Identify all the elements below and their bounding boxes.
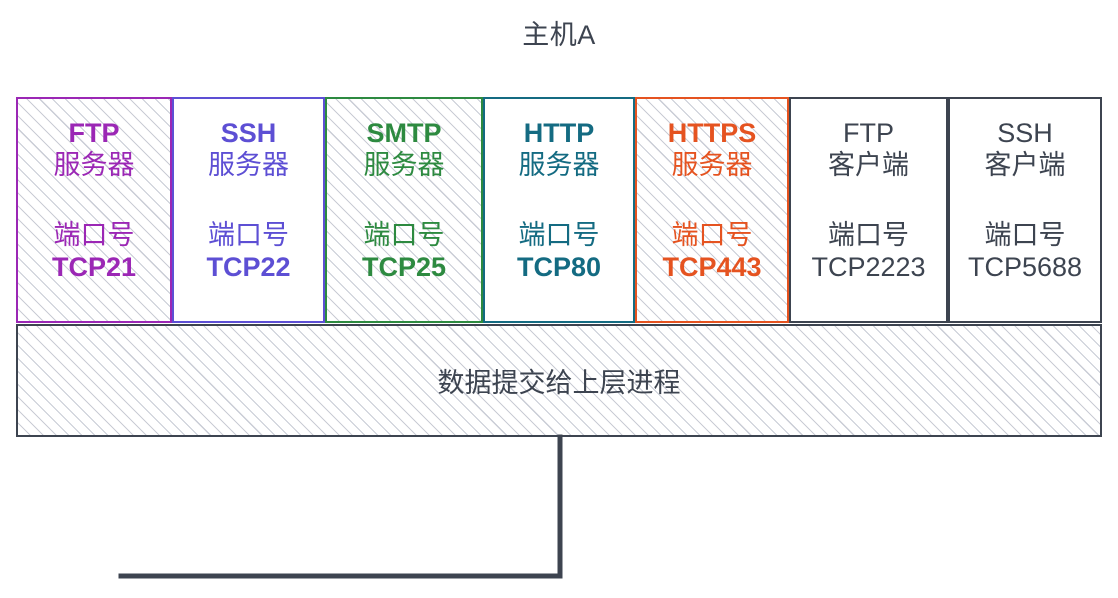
- service-name: HTTPS: [668, 119, 757, 148]
- port-value: TCP443: [662, 253, 761, 283]
- port-value: TCP80: [517, 253, 601, 283]
- page-title: 主机A: [0, 22, 1118, 49]
- service-box-ssh-server: SSH服务器端口号TCP22: [172, 97, 325, 323]
- port-label: 端口号: [985, 220, 1066, 250]
- port-value: TCP21: [52, 253, 136, 283]
- port-label: 端口号: [672, 220, 753, 250]
- port-value: TCP2223: [811, 253, 925, 283]
- port-label: 端口号: [208, 220, 289, 250]
- port-label: 端口号: [519, 220, 600, 250]
- service-box-http-server: HTTP服务器端口号TCP80: [483, 97, 635, 323]
- service-name: SMTP: [366, 119, 441, 148]
- service-role: 服务器: [364, 150, 445, 180]
- service-box-ftp-server: FTP服务器端口号TCP21: [16, 97, 172, 323]
- connector-polyline: [121, 437, 560, 576]
- service-role: 客户端: [828, 150, 909, 180]
- service-box-https-server: HTTPS服务器端口号TCP443: [635, 97, 789, 323]
- service-name: HTTP: [524, 119, 595, 148]
- service-role: 客户端: [985, 150, 1066, 180]
- service-box-smtp-server: SMTP服务器端口号TCP25: [325, 97, 483, 323]
- service-name: FTP: [69, 119, 120, 148]
- diagram-root: 主机A FTP服务器端口号TCP21SSH服务器端口号TCP22SMTP服务器端…: [0, 0, 1118, 598]
- service-name: SSH: [221, 119, 277, 148]
- port-label: 端口号: [828, 220, 909, 250]
- upper-layer-bar-label: 数据提交给上层进程: [438, 361, 681, 400]
- service-role: 服务器: [208, 150, 289, 180]
- service-column-row: FTP服务器端口号TCP21SSH服务器端口号TCP22SMTP服务器端口号TC…: [16, 97, 1102, 323]
- service-name: FTP: [843, 119, 894, 148]
- port-value: TCP22: [206, 253, 290, 283]
- port-value: TCP5688: [968, 253, 1082, 283]
- port-label: 端口号: [54, 220, 135, 250]
- service-name: SSH: [997, 119, 1053, 148]
- service-box-ssh-client: SSH客户端端口号TCP5688: [948, 97, 1102, 323]
- port-value: TCP25: [362, 253, 446, 283]
- service-box-ftp-client: FTP客户端端口号TCP2223: [789, 97, 948, 323]
- port-label: 端口号: [364, 220, 445, 250]
- service-role: 服务器: [519, 150, 600, 180]
- upper-layer-delivery-bar: 数据提交给上层进程: [16, 324, 1102, 437]
- service-role: 服务器: [54, 150, 135, 180]
- service-role: 服务器: [672, 150, 753, 180]
